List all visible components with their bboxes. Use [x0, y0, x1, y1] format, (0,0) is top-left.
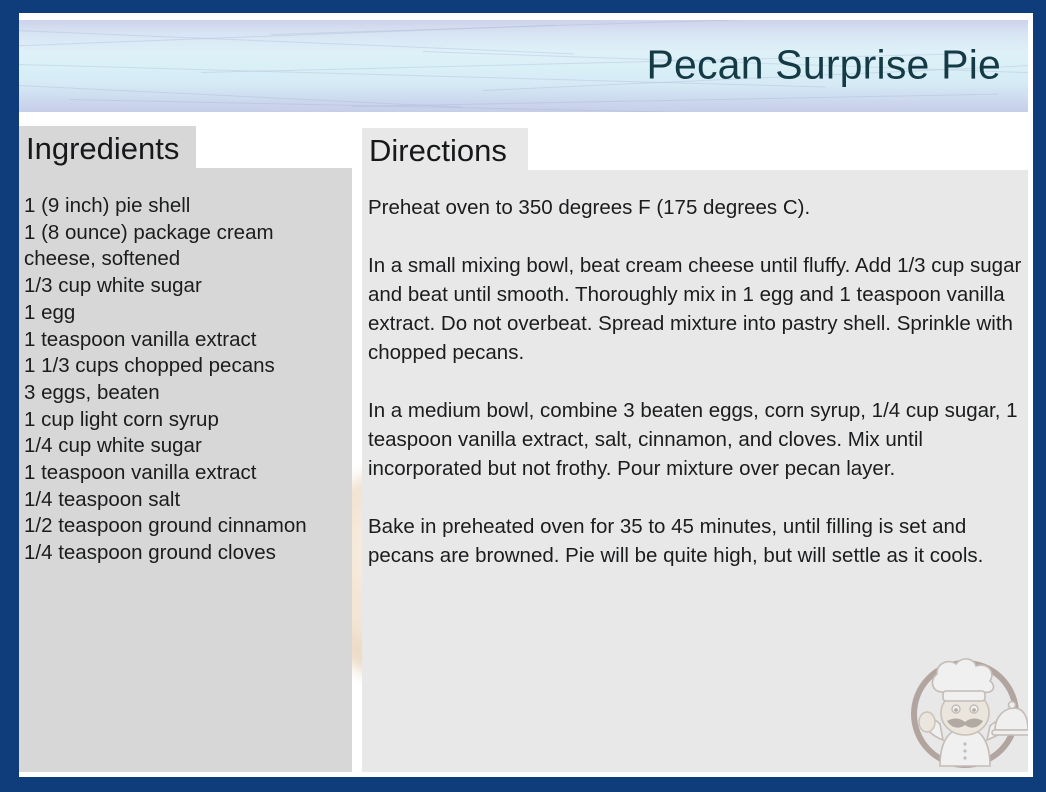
ingredients-heading: Ingredients — [26, 131, 179, 167]
list-item: 1/3 cup white sugar — [24, 273, 350, 300]
list-item: 1 1/3 cups chopped pecans — [24, 353, 350, 380]
header-banner: Pecan Surprise Pie — [19, 20, 1028, 112]
list-item: 1 egg — [24, 300, 350, 327]
list-item: 1 (9 inch) pie shell — [24, 193, 350, 220]
list-item: 1/4 cup white sugar — [24, 433, 350, 460]
direction-step: In a medium bowl, combine 3 beaten eggs,… — [368, 396, 1022, 483]
list-item: 3 eggs, beaten — [24, 380, 350, 407]
list-item: 1 teaspoon vanilla extract — [24, 460, 350, 487]
direction-step: Bake in preheated oven for 35 to 45 minu… — [368, 512, 1022, 570]
list-item: 1 teaspoon vanilla extract — [24, 327, 350, 354]
list-item: 1 cup light corn syrup — [24, 407, 350, 434]
recipe-card-page: Pecan Surprise Pie — [0, 0, 1046, 792]
directions-heading: Directions — [369, 133, 507, 169]
directions-text: Preheat oven to 350 degrees F (175 degre… — [368, 193, 1022, 570]
page-title: Pecan Surprise Pie — [646, 42, 1001, 89]
ingredients-list: 1 (9 inch) pie shell 1 (8 ounce) package… — [24, 193, 350, 567]
list-item: 1/2 teaspoon ground cinnamon — [24, 513, 350, 540]
list-item: 1/4 teaspoon salt — [24, 487, 350, 514]
list-item: 1 (8 ounce) package cream cheese, soften… — [24, 220, 350, 273]
direction-step: In a small mixing bowl, beat cream chees… — [368, 251, 1022, 367]
list-item: 1/4 teaspoon ground cloves — [24, 540, 350, 567]
direction-step: Preheat oven to 350 degrees F (175 degre… — [368, 193, 1022, 222]
